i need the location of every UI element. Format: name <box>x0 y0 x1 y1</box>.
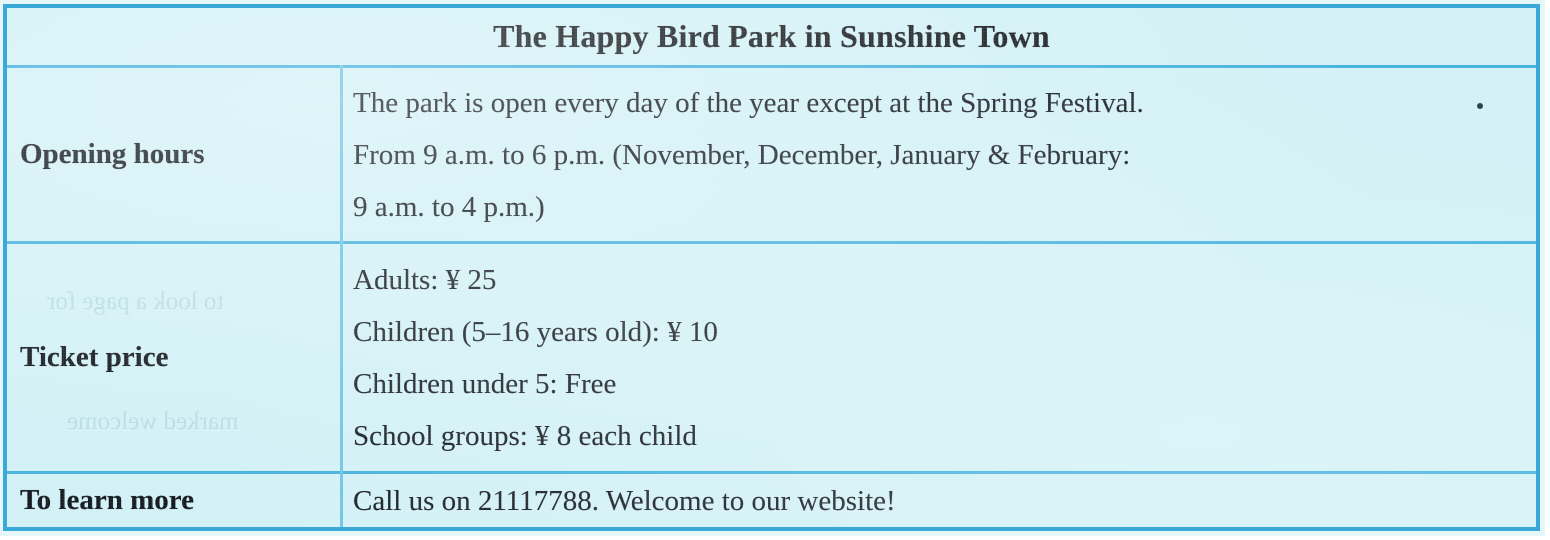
scan-speck <box>1477 103 1483 109</box>
row-label: Ticket price <box>20 341 168 374</box>
table-title-row: The Happy Bird Park in Sunshine Town <box>7 8 1536 65</box>
content-line: School groups: ¥ 8 each child <box>353 410 1536 462</box>
page-title: The Happy Bird Park in Sunshine Town <box>493 18 1050 55</box>
content-line: Children (5–16 years old): ¥ 10 <box>353 306 1536 358</box>
park-information-table: to look a page for marked welcome The Ha… <box>3 4 1540 531</box>
column-divider <box>340 65 343 527</box>
table-row: Ticket price Adults: ¥ 25 Children (5–16… <box>7 244 1536 471</box>
table-row: Opening hours The park is open every day… <box>7 68 1536 241</box>
content-line: Children under 5: Free <box>353 358 1536 410</box>
row-label-cell: Opening hours <box>7 68 340 241</box>
row-content-cell: Adults: ¥ 25 Children (5–16 years old): … <box>340 244 1536 471</box>
row-label-cell: Ticket price <box>7 244 340 471</box>
content-line: Adults: ¥ 25 <box>353 254 1536 306</box>
row-content-cell: Call us on 21117788. Welcome to our webs… <box>340 474 1536 527</box>
content-line: The park is open every day of the year e… <box>353 77 1536 129</box>
row-label: To learn more <box>20 484 194 517</box>
content-line: Call us on 21117788. Welcome to our webs… <box>353 475 1536 527</box>
content-line: From 9 a.m. to 6 p.m. (November, Decembe… <box>353 129 1536 181</box>
scanned-page: to look a page for marked welcome The Ha… <box>0 0 1550 540</box>
table-row: To learn more Call us on 21117788. Welco… <box>7 474 1536 527</box>
row-label-cell: To learn more <box>7 474 340 527</box>
row-content-cell: The park is open every day of the year e… <box>340 68 1536 241</box>
row-label: Opening hours <box>20 138 205 171</box>
content-line: 9 a.m. to 4 p.m.) <box>353 181 1536 233</box>
